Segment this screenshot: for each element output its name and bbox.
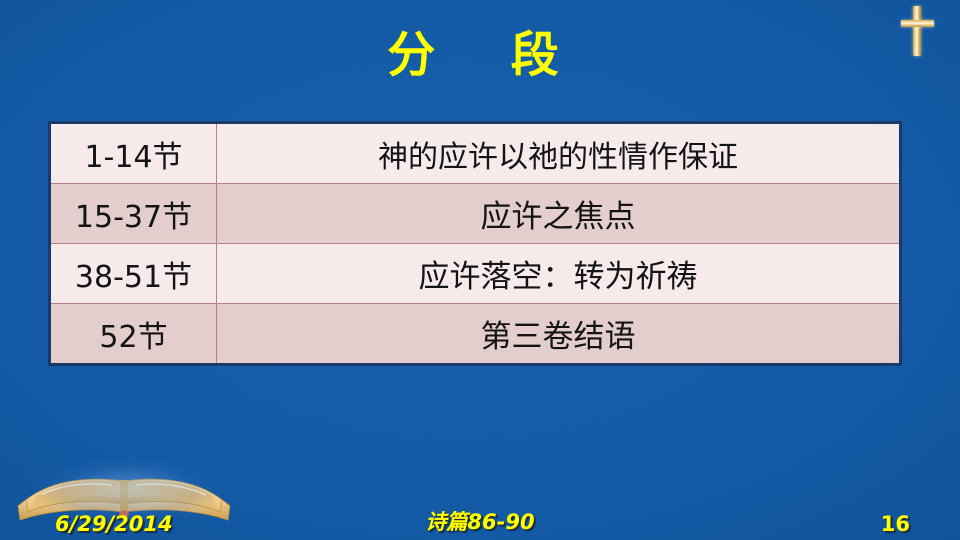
table-row: 52节 第三卷结语 xyxy=(50,304,901,365)
slide-canvas: 分 段 1-14节 神的应许以祂的性情作保证 15-37节 应许之焦点 38-5… xyxy=(0,0,960,540)
table-cell-range: 15-37节 xyxy=(50,184,217,244)
table-row: 1-14节 神的应许以祂的性情作保证 xyxy=(50,123,901,184)
table-cell-range: 38-51节 xyxy=(50,244,217,304)
segment-table-body: 1-14节 神的应许以祂的性情作保证 15-37节 应许之焦点 38-51节 应… xyxy=(50,123,901,365)
table-cell-range: 52节 xyxy=(50,304,217,365)
table-cell-description: 应许落空：转为祈祷 xyxy=(217,244,901,304)
table-cell-description: 第三卷结语 xyxy=(217,304,901,365)
footer-page-number: 16 xyxy=(881,512,910,536)
footer-reference: 诗篇86-90 xyxy=(0,506,960,536)
table-cell-description: 应许之焦点 xyxy=(217,184,901,244)
table-cell-description: 神的应许以祂的性情作保证 xyxy=(217,123,901,184)
table-row: 15-37节 应许之焦点 xyxy=(50,184,901,244)
table-row: 38-51节 应许落空：转为祈祷 xyxy=(50,244,901,304)
segment-table: 1-14节 神的应许以祂的性情作保证 15-37节 应许之焦点 38-51节 应… xyxy=(48,121,902,366)
table-cell-range: 1-14节 xyxy=(50,123,217,184)
page-title: 分 段 xyxy=(0,26,960,84)
